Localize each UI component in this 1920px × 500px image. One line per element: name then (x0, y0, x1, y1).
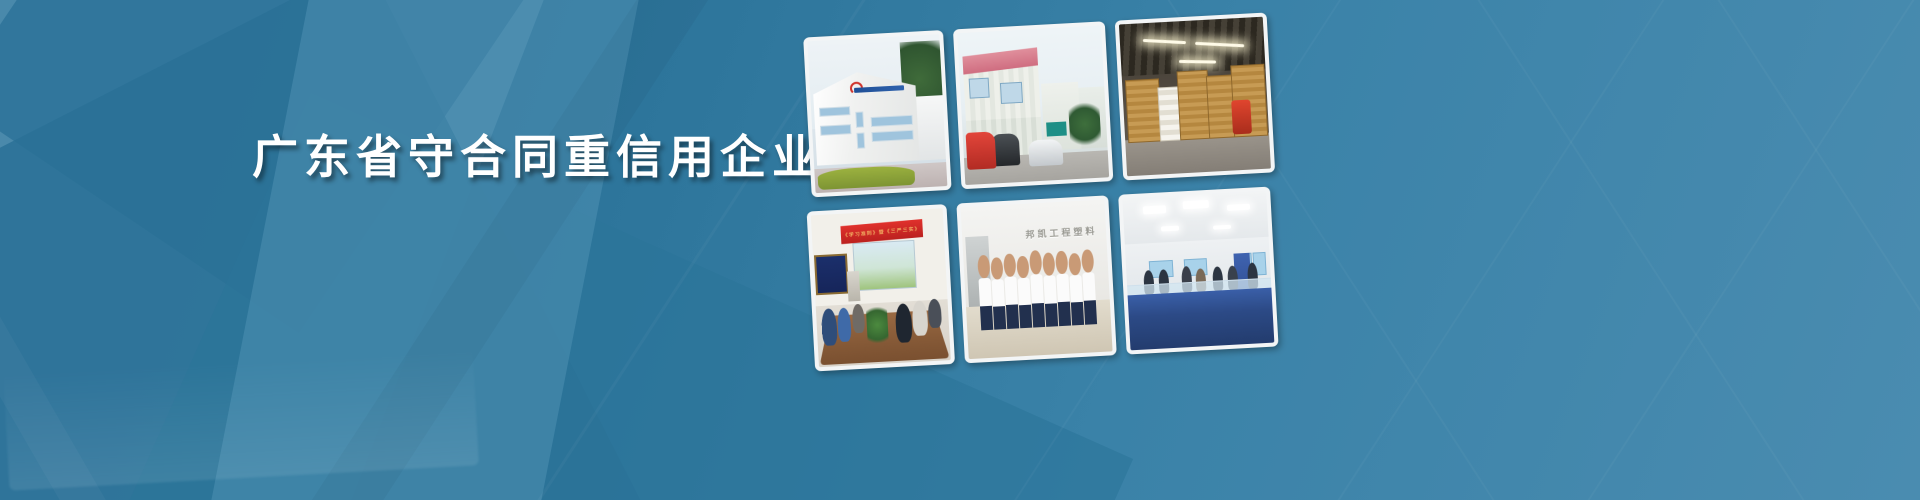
banner-headline: 广东省守合同重信用企业 (252, 128, 824, 186)
tree-icon (1068, 99, 1102, 149)
ceiling-lamp (1179, 60, 1216, 64)
collage-row-top (803, 12, 1275, 197)
photo-plant-exterior[interactable] (953, 21, 1113, 189)
green-awning (1046, 122, 1067, 137)
podium (847, 271, 861, 302)
photo-office[interactable] (1118, 187, 1278, 355)
photo-meeting-room[interactable]: 《学习准则》暨《三严三实》 (807, 204, 955, 371)
photo-collage: 《学习准则》暨《三严三实》 邦凯工程 (790, 0, 1389, 386)
potted-plant (866, 303, 889, 344)
attendee (837, 308, 852, 342)
presentation-screen (852, 240, 917, 291)
ceiling-light (1143, 205, 1166, 214)
photo-factory-exterior[interactable] (803, 30, 951, 197)
attendee (851, 304, 864, 333)
photo-image-warehouse (1119, 17, 1271, 177)
car-red (965, 132, 996, 170)
forklift-icon (1231, 100, 1251, 134)
ceiling-light (1161, 226, 1178, 231)
photo-image-plant (957, 25, 1109, 185)
wall-board (814, 253, 849, 295)
collage-row-bottom: 《学习准则》暨《三严三实》 邦凯工程 (807, 187, 1279, 372)
photo-image-meeting: 《学习准则》暨《三严三实》 (811, 208, 951, 367)
attendee (912, 301, 928, 337)
attendee (928, 298, 943, 328)
photo-image-team: 邦凯工程塑料 (961, 200, 1113, 360)
car-white (1028, 139, 1064, 167)
ceiling-light (1183, 200, 1209, 209)
attendee (895, 303, 913, 343)
photo-image-office (1122, 191, 1274, 351)
cubicle-desks (1125, 288, 1275, 351)
photo-warehouse[interactable] (1115, 12, 1275, 180)
photo-team-group[interactable]: 邦凯工程塑料 (956, 195, 1116, 363)
photo-image-factory (807, 34, 947, 193)
attendee (821, 308, 837, 345)
company-banner: 广东省守合同重信用企业 (0, 0, 1920, 500)
